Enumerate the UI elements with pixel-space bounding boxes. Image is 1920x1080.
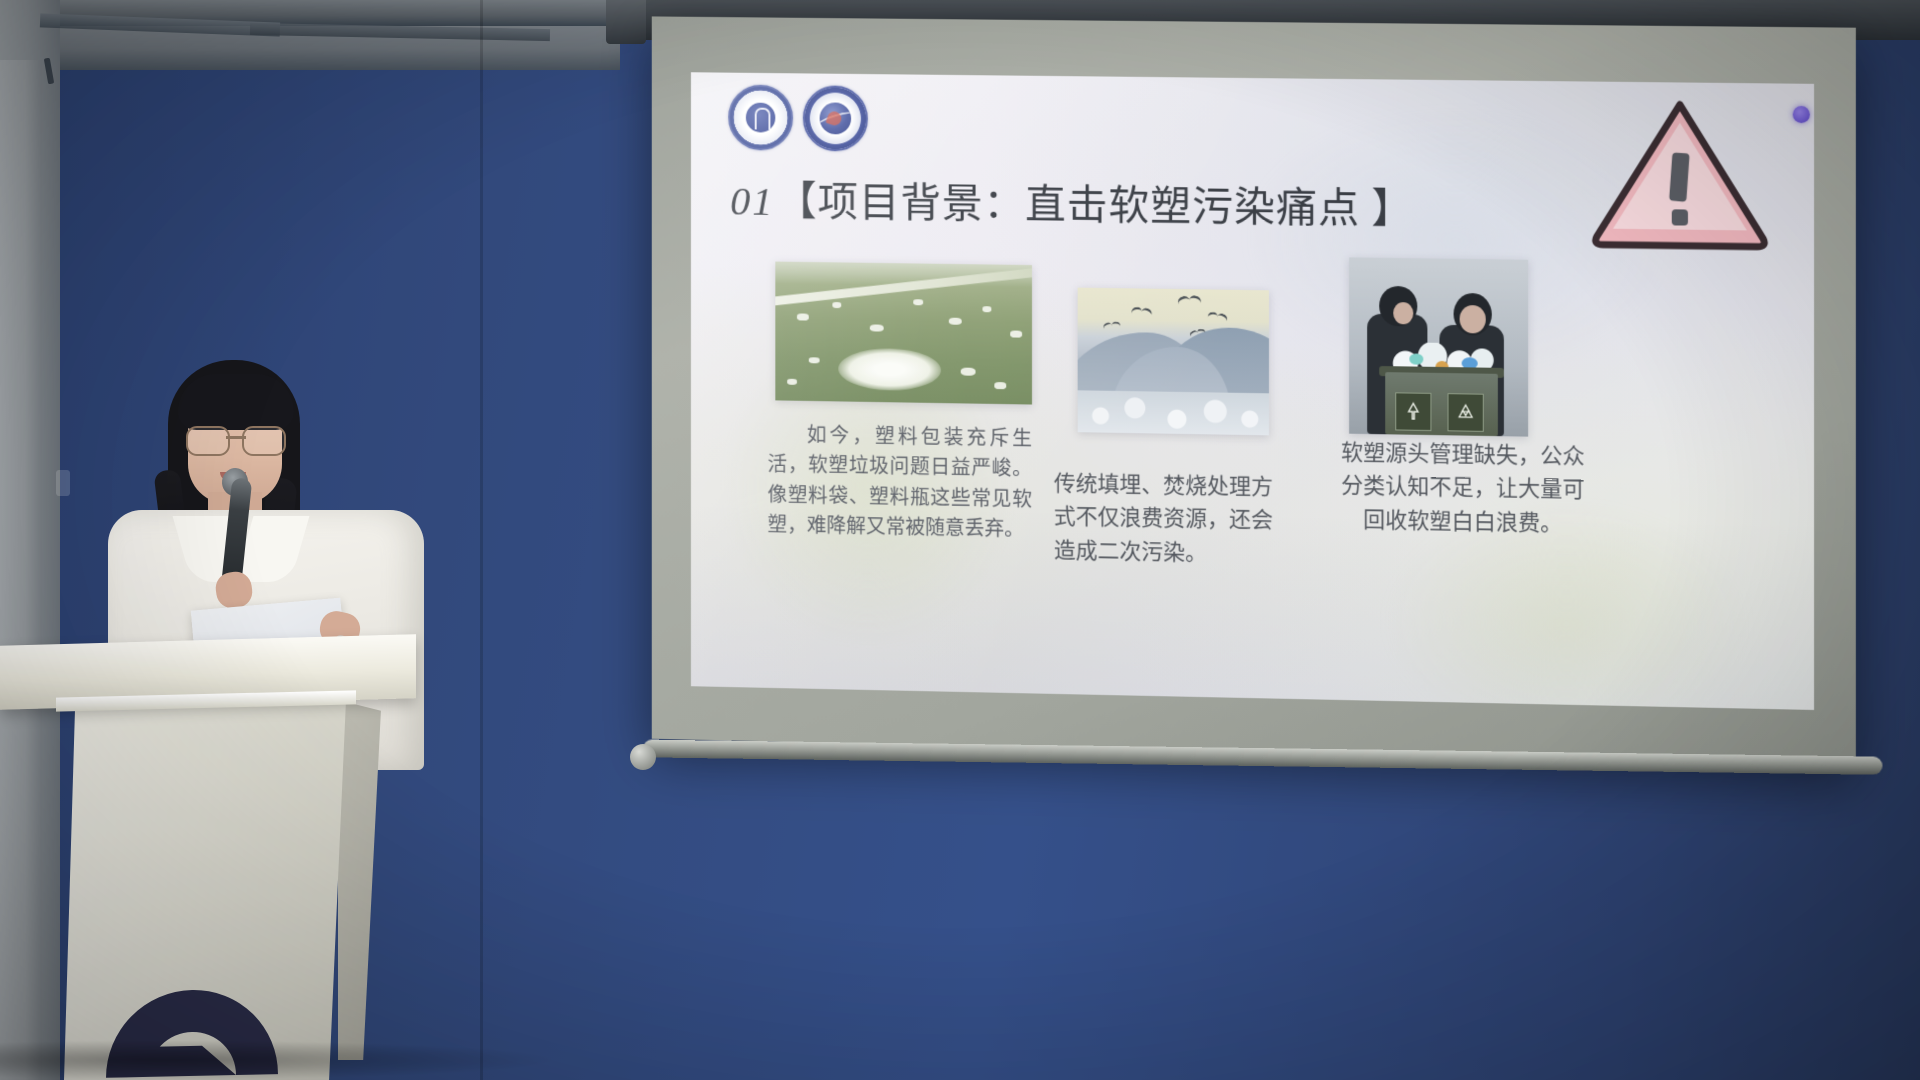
university-emblem-left xyxy=(728,85,793,151)
field-litter-pile xyxy=(838,348,941,391)
screenshot-stage: 01【项目背景：直击软塑污染痛点 】 xyxy=(0,0,1920,1080)
person-right-face xyxy=(1460,305,1486,333)
bin-label-recyclable xyxy=(1448,393,1484,432)
caption-source-management: 软塑源头管理缺失，公众分类认知不足，让大量可回收软塑白白浪费。 xyxy=(1337,435,1589,540)
university-emblem-left-core xyxy=(746,103,775,133)
bird-icon xyxy=(1189,328,1206,339)
projection-screen: 01【项目背景：直击软塑污染痛点 】 xyxy=(652,16,1856,765)
projector-screen-housing-cap xyxy=(606,0,646,44)
person-left-face xyxy=(1393,302,1413,324)
bird-icon xyxy=(1207,311,1229,324)
wall-fixture xyxy=(56,470,70,496)
field-road xyxy=(775,265,1032,306)
speaker-fringe xyxy=(178,374,294,430)
slide-logos xyxy=(728,85,868,152)
wall-left-pillar-inner xyxy=(0,60,42,1080)
glasses-lens-left xyxy=(186,426,230,456)
presentation-slide: 01【项目背景：直击软塑污染痛点 】 xyxy=(691,72,1814,710)
university-emblem-right xyxy=(803,85,868,151)
wall-seam-line xyxy=(480,0,483,1080)
slide-corner-accent-icon xyxy=(1793,106,1810,123)
bird-icon xyxy=(1103,321,1122,331)
photo-overflowing-recycling-bin xyxy=(1349,257,1528,436)
caption-landfill-incineration: 传统填埋、焚烧处理方式不仅浪费资源，还会造成二次污染。 xyxy=(1054,467,1291,571)
floor-shadow xyxy=(0,1040,560,1080)
trash-item-teal xyxy=(1409,353,1423,364)
photo-landfill-valley-birds xyxy=(1078,288,1269,436)
caption-plastic-packaging: 如今，塑料包装充斥生活，软塑垃圾问题日益严峻。像塑料袋、塑料瓶这些常见软塑，难降… xyxy=(767,420,1032,545)
speaker-glasses xyxy=(186,426,286,452)
glasses-lens-right xyxy=(242,426,286,456)
slide-title-text: 【项目背景：直击软塑污染痛点 】 xyxy=(776,178,1413,232)
bin-label-other-waste xyxy=(1395,392,1431,431)
landfill-debris xyxy=(1078,390,1269,435)
slide-title: 01【项目背景：直击软塑污染痛点 】 xyxy=(730,167,1413,235)
projector-screen-knob xyxy=(630,744,656,770)
bird-icon xyxy=(1131,306,1153,318)
slide-title-number: 01 xyxy=(730,178,774,224)
university-emblem-right-core xyxy=(820,102,852,134)
slide-canvas: 01【项目背景：直击软塑污染痛点 】 xyxy=(691,72,1814,710)
glasses-bridge xyxy=(226,436,246,439)
warning-triangle-icon xyxy=(1589,90,1772,253)
bird-icon xyxy=(1178,295,1203,307)
photo-plastic-littered-field xyxy=(775,262,1032,405)
